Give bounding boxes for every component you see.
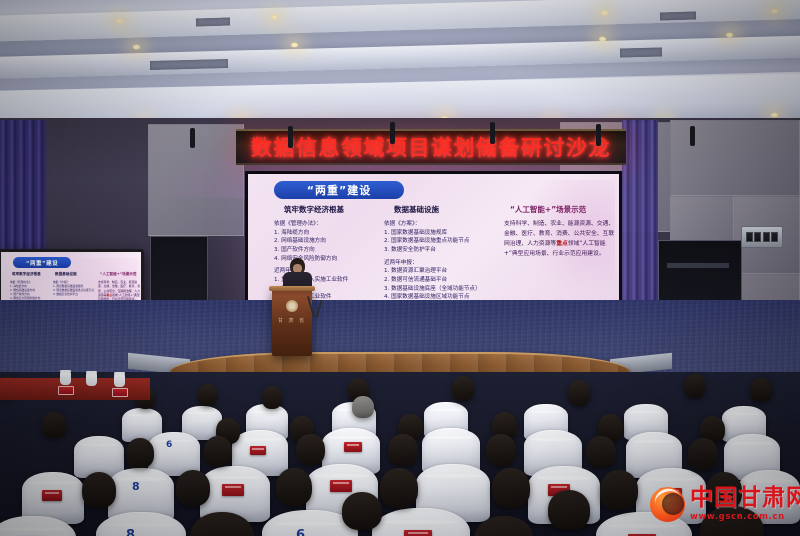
seat-name-tag (330, 480, 352, 492)
audience-person (276, 468, 312, 506)
ceiling-downlight (115, 18, 124, 24)
audience-person (42, 412, 66, 438)
watermark-site-name: 中国甘肃网 (690, 487, 800, 510)
watermark-logo: 中国甘肃网 www.gscn.com.cn (648, 480, 794, 528)
column-heading: “人工智能+”场景示范 (504, 204, 618, 215)
monitor-slide-title-text: “两重”建设 (26, 259, 58, 267)
block-item: 1. 海陆缆方向 (274, 229, 376, 238)
audience-person (204, 436, 232, 466)
water-cup (86, 373, 97, 386)
column-heading: 筑牢数字经济根基 (274, 204, 376, 215)
column-heading: 数据基础设施 (53, 272, 95, 277)
audience-person (568, 380, 590, 406)
block-lead: 近两年申报： (384, 259, 494, 268)
panel-key (763, 232, 770, 242)
audience-person (600, 470, 638, 510)
slide-title-pill: “两重”建设 (274, 181, 404, 199)
block-item: 3. 数据安全防护平台 (53, 292, 95, 296)
wall-control-panel[interactable] (741, 226, 783, 248)
door-glass-reflection (667, 263, 729, 268)
cup-lid (86, 371, 97, 374)
spotlight-fixture (596, 124, 601, 146)
led-banner: 数据信息领域项目谋划储备研讨沙龙 (236, 129, 626, 165)
block-item: 1. 数据资源汇聚治理平台 (384, 267, 494, 276)
podium-label-text: 甘 肃 省 (278, 317, 306, 324)
column-heading: 数据基础设施 (384, 204, 494, 215)
ceiling-downlight (290, 42, 299, 48)
column-block: 依据《管理办法》： 1. 海陆缆方向 2. 网络基础设施方向 3. 国产软件方向… (10, 280, 50, 300)
spotlight-fixture (190, 128, 195, 148)
audience-person (388, 434, 418, 466)
audience-person (380, 468, 418, 508)
panel-key (771, 232, 778, 242)
podium-emblem-icon (286, 300, 298, 312)
podium-top-surface (269, 286, 315, 291)
ceiling-downlight (132, 44, 141, 50)
slide-title-text: “两重”建设 (307, 182, 371, 198)
audience-person (198, 384, 217, 406)
seat-number: 6 (166, 440, 172, 450)
seat-number: 6 (296, 528, 305, 536)
seat-number: 8 (126, 528, 135, 536)
audience-person (586, 436, 616, 468)
block-item: 1. 国家数据基础设施规库 (384, 229, 494, 238)
column-heading: “人工智能+”场景示范 (98, 272, 141, 277)
audience-person (82, 472, 116, 508)
column-body: 支持科学、制造、农业、能源资源、交通、金融、医疗、教育、消费、公共安全、互联网治… (98, 280, 141, 302)
body-emphasis: 重点 (556, 241, 568, 247)
audience-person (452, 376, 474, 401)
seat-number: 8 (132, 480, 140, 493)
slide-column-3: “人工智能+”场景示范 支持科学、制造、农业、能源资源、交通、金融、医疗、教育、… (494, 204, 618, 301)
cup-lid (114, 372, 125, 375)
seat-name-tag (250, 446, 266, 455)
ceiling (0, 0, 800, 130)
panel-key (754, 232, 761, 242)
column-block: 近两年申报： 1. 数据资源汇聚治理平台 2. 数据可信流通基础平台 3. 数据… (384, 259, 494, 301)
ceiling-downlight (600, 10, 609, 16)
column-body: 支持科学、制造、农业、能源资源、交通、金融、医疗、教育、消费、公共安全、互联网治… (504, 220, 616, 259)
podium-label: 甘 肃 省 (274, 316, 310, 324)
watermark-text-group: 中国甘肃网 www.gscn.com.cn (690, 487, 800, 522)
audience-person (750, 378, 772, 402)
audience-person (688, 438, 718, 470)
audience-person (262, 386, 282, 409)
watermark-url: www.gscn.com.cn (690, 512, 800, 522)
table-nameplate (58, 386, 74, 395)
cup-lid (60, 370, 71, 373)
ceiling-downlight (770, 8, 779, 14)
air-vent (196, 18, 230, 27)
seat-name-tag (42, 490, 62, 501)
block-item: 2. 数据可信流通基础平台 (384, 276, 494, 285)
air-vent (660, 11, 696, 20)
column-block: 依据《方案》： 1. 国家数据基础设施规库 2. 国家数据基础设施重点功能节点 … (53, 280, 95, 296)
block-item: 4. 网络安全风险防御方向 (274, 255, 376, 264)
audience-person (342, 492, 382, 530)
seat-name-tag (404, 530, 432, 536)
water-cup (114, 374, 125, 387)
block-item: 3. 数据安全防护平台 (384, 246, 494, 255)
ceiling-downlight (725, 32, 734, 38)
air-vent (620, 47, 662, 57)
audience-person (176, 470, 210, 506)
spotlight-fixture (490, 122, 495, 144)
audience-person (352, 396, 374, 418)
block-item: 2. 国家数据基础设施重点功能节点 (384, 237, 494, 246)
table-nameplate (112, 388, 128, 397)
monitor-slide-title-pill: “两重”建设 (13, 257, 71, 268)
block-lead: 依据《方案》： (384, 220, 494, 229)
block-lead: 依据《管理办法》： (274, 220, 376, 229)
column-heading: 筑牢数字经济根基 (10, 272, 50, 277)
block-item: 3. 数据基础设施底座（全域功能节点） (384, 285, 494, 294)
audience-person (548, 490, 590, 530)
spotlight-fixture (690, 126, 695, 146)
audience-person (492, 468, 530, 508)
block-item: 2. 网络基础设施方向 (274, 237, 376, 246)
led-banner-text: 数据信息领域项目谋划储备研讨沙龙 (251, 132, 611, 162)
auditorium-photo: 数据信息领域项目谋划储备研讨沙龙 “两重”建设 筑牢数字经济根基 依据《管理办法… (0, 0, 800, 536)
seat-name-tag (344, 442, 362, 452)
ceiling-downlight (270, 14, 279, 20)
column-block: 依据《方案》： 1. 国家数据基础设施规库 2. 国家数据基础设施重点功能节点 … (384, 220, 494, 255)
block-item: 3. 国产软件方向 (274, 246, 376, 255)
slide-column-2: 数据基础设施 依据《方案》： 1. 国家数据基础设施规库 2. 国家数据基础设施… (376, 204, 494, 301)
panel-key (746, 232, 753, 242)
seat-name-tag (222, 484, 244, 496)
spotlight-fixture (288, 126, 293, 148)
gscn-logo-icon (648, 484, 688, 524)
audience-person (296, 434, 325, 465)
column-block: 依据《管理办法》： 1. 海陆缆方向 2. 网络基础设施方向 3. 国产软件方向… (274, 220, 376, 263)
ceiling-downlight (598, 36, 607, 42)
audience-person (486, 434, 516, 466)
spotlight-fixture (390, 122, 395, 144)
water-cup (60, 372, 71, 385)
audience-person (684, 374, 705, 398)
audience-person (126, 438, 154, 468)
